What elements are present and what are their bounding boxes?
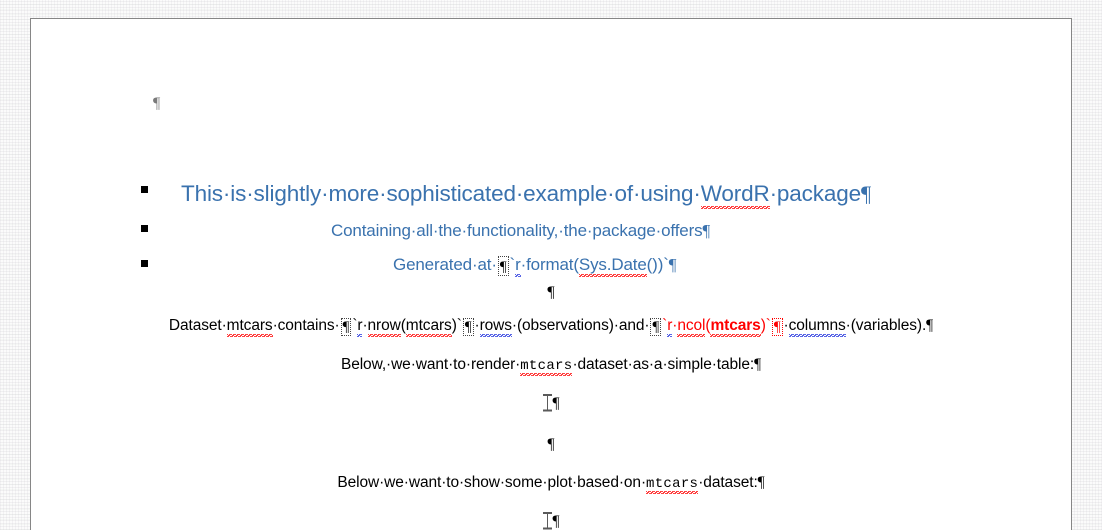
dataset-r-token-2: r xyxy=(667,317,672,334)
render-text-a: Below,·we·want·to·render· xyxy=(341,356,520,373)
dataset-text-c: ·(observations)·and· xyxy=(512,317,650,334)
render-mtcars-code: mtcars xyxy=(520,358,572,374)
dataset-mtcars-arg-2: mtcars xyxy=(710,317,760,334)
dataset-space-1: · xyxy=(362,317,367,334)
plot-text-b: ·dataset: xyxy=(698,474,757,491)
bullet-3-format-call: ·format( xyxy=(521,255,579,274)
pilcrow-mark: ¶ xyxy=(465,319,472,335)
content-control-tag[interactable]: ¶ xyxy=(650,318,661,336)
bullet-item-1[interactable]: This·is·slightly·more·sophisticated·exam… xyxy=(181,181,871,207)
bullet-marker-1 xyxy=(141,186,148,193)
dataset-space-4: · xyxy=(784,317,789,334)
dataset-backtick-2: ` xyxy=(457,317,462,334)
pilcrow-mark: ¶ xyxy=(754,356,761,373)
content-control-tag[interactable]: ¶ xyxy=(498,256,509,276)
text-cursor-ibeam xyxy=(543,394,552,411)
dataset-space-2: · xyxy=(475,317,480,334)
pilcrow-mark: ¶ xyxy=(343,319,350,335)
bullet-item-2[interactable]: Containing·all·the·functionality,·the·pa… xyxy=(331,221,710,241)
pilcrow-mark: ¶ xyxy=(702,221,710,240)
bullet-1-wordr-misspelled: WordR xyxy=(701,181,770,206)
bullet-1-text-b: ·package xyxy=(770,181,861,206)
content-control-tag[interactable]: ¶ xyxy=(341,318,352,336)
document-body[interactable]: ¶ This·is·slightly·more·sophisticated·ex… xyxy=(31,19,1071,530)
pilcrow-mark: ¶ xyxy=(926,317,933,334)
plot-mtcars-code: mtcars xyxy=(646,476,698,492)
dataset-mtcars-misspelled: mtcars xyxy=(227,317,273,334)
paragraph-empty-first[interactable]: ¶ xyxy=(153,95,160,113)
dataset-text-b: ·contains· xyxy=(273,317,340,334)
dataset-nrow-misspelled: nrow xyxy=(368,317,401,334)
pilcrow-mark: ¶ xyxy=(774,319,781,335)
pilcrow-mark: ¶ xyxy=(758,474,765,491)
paragraph-show-plot-line[interactable]: Below·we·want·to·show·some·plot·based·on… xyxy=(31,474,1071,492)
paragraph-empty-with-cursor-2[interactable]: ¶ xyxy=(31,512,1071,530)
bullet-3-r-token: r xyxy=(515,255,521,274)
dataset-text-a: Dataset· xyxy=(169,317,227,334)
dataset-mtcars-arg-1: mtcars xyxy=(406,317,452,334)
content-control-tag[interactable]: ¶ xyxy=(772,318,783,336)
document-page[interactable]: ¶ This·is·slightly·more·sophisticated·ex… xyxy=(30,18,1072,530)
dataset-rows-word: rows xyxy=(480,317,512,334)
pilcrow-mark: ¶ xyxy=(547,284,554,301)
dataset-r-token-1: r xyxy=(357,317,362,334)
pilcrow-mark: ¶ xyxy=(652,319,659,335)
bullet-2-text: Containing·all·the·functionality,·the·pa… xyxy=(331,221,702,240)
bullet-1-text-a: This·is·slightly·more·sophisticated·exam… xyxy=(181,181,701,206)
pilcrow-mark: ¶ xyxy=(669,255,677,274)
bullet-item-3[interactable]: Generated·at·¶`r·format(Sys.Date())`¶ xyxy=(393,255,676,275)
pilcrow-mark: ¶ xyxy=(500,259,507,275)
paragraph-empty-2[interactable]: ¶ xyxy=(31,436,1071,454)
dataset-columns-word: columns xyxy=(789,317,846,334)
paragraph-empty-after-bullets[interactable]: ¶ xyxy=(31,284,1071,302)
bullet-3-sysdate-misspelled: Sys.Date xyxy=(579,255,647,274)
pilcrow-mark: ¶ xyxy=(553,513,560,530)
content-control-tag[interactable]: ¶ xyxy=(463,318,474,336)
bullet-3-text-tail: ())` xyxy=(647,255,669,274)
dataset-text-d: ·(variables). xyxy=(846,317,927,334)
pilcrow-mark: ¶ xyxy=(553,395,560,412)
pilcrow-mark: ¶ xyxy=(548,436,555,453)
bullet-marker-3 xyxy=(141,260,148,267)
pilcrow-mark: ¶ xyxy=(153,95,160,112)
paragraph-dataset-line[interactable]: Dataset·mtcars·contains·¶`r·nrow(mtcars)… xyxy=(31,317,1071,335)
paragraph-empty-with-cursor-1[interactable]: ¶ xyxy=(31,394,1071,413)
dataset-backtick-4: ` xyxy=(766,317,771,334)
bullet-marker-2 xyxy=(141,225,148,232)
render-text-b: ·dataset·as·a·simple·table: xyxy=(572,356,754,373)
plot-text-a: Below·we·want·to·show·some·plot·based·on… xyxy=(337,474,646,491)
pilcrow-mark: ¶ xyxy=(861,181,871,206)
bullet-3-text-a: Generated·at· xyxy=(393,255,497,274)
text-cursor-ibeam xyxy=(543,512,552,529)
paragraph-render-table-line[interactable]: Below,·we·want·to·render·mtcars·dataset·… xyxy=(31,356,1071,374)
dataset-ncol-misspelled: ncol xyxy=(677,317,705,334)
